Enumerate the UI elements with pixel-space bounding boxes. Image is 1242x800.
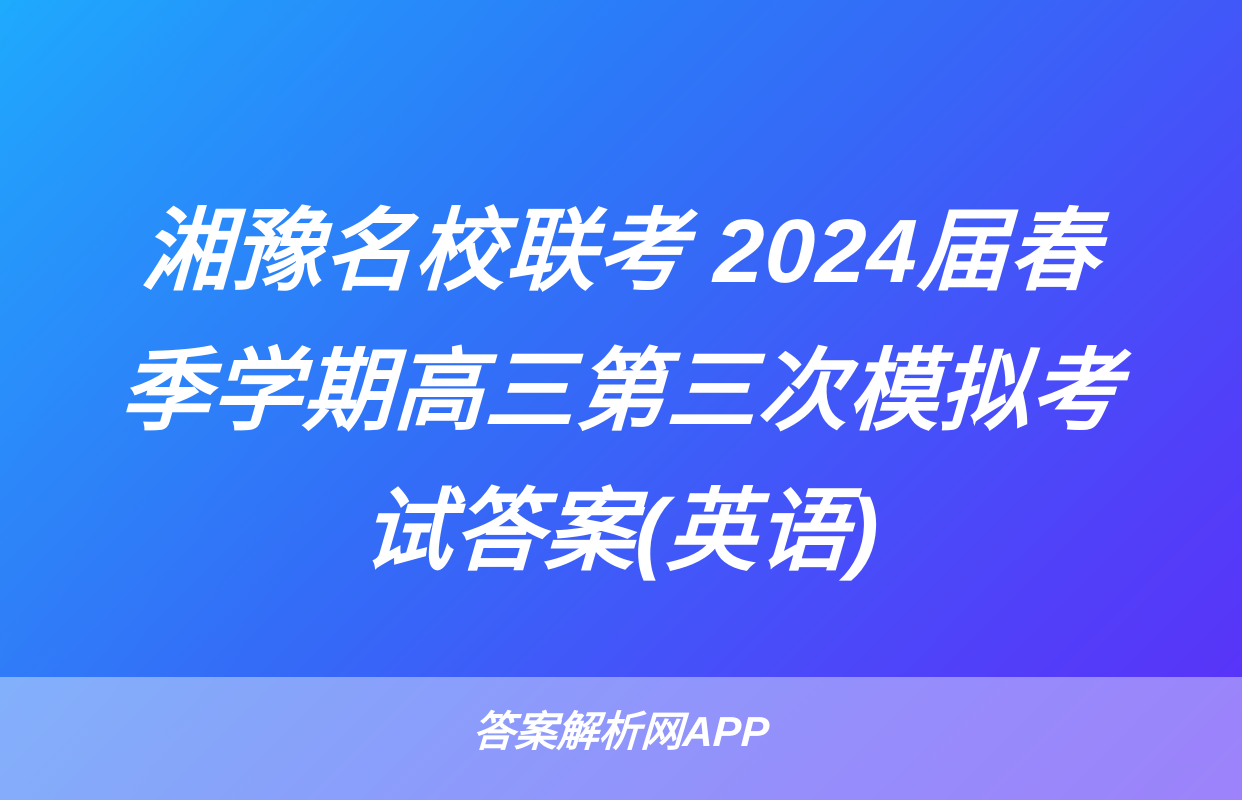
title-line-1: 湘豫名校联考 2024届春: [54, 182, 1189, 322]
watermark-label: 答案解析网APP: [0, 706, 1242, 758]
page-title: 湘豫名校联考 2024届春 季学期高三第三次模拟考 试答案(英语): [0, 182, 1242, 602]
title-line-2: 季学期高三第三次模拟考: [54, 322, 1189, 462]
cover-card: 湘豫名校联考 2024届春 季学期高三第三次模拟考 试答案(英语) 答案解析网A…: [0, 0, 1242, 800]
title-line-3: 试答案(英语): [54, 462, 1189, 602]
